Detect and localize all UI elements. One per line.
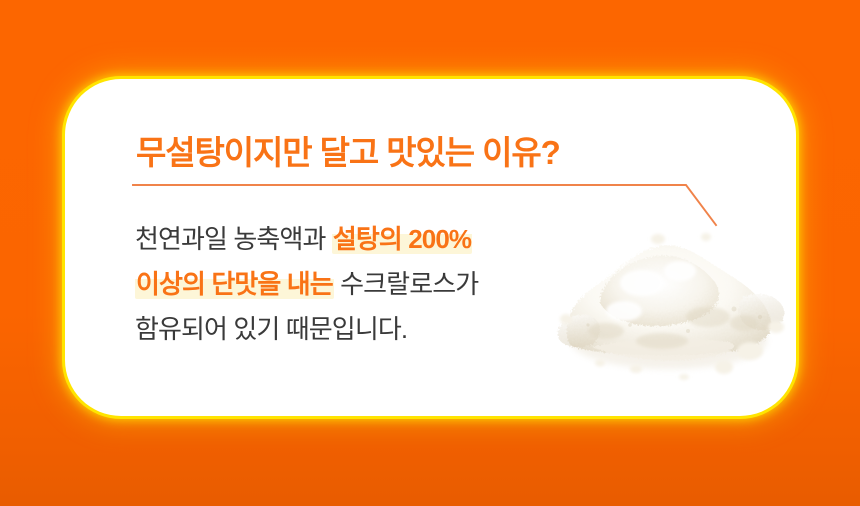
- body-line-2: 이상의 단맛을 내는 수크랄로스가: [135, 262, 478, 307]
- body-paragraph: 천연과일 농축액과 설탕의 200% 이상의 단맛을 내는 수크랄로스가 함유되…: [135, 217, 478, 352]
- body-line-1: 천연과일 농축액과 설탕의 200%: [135, 217, 478, 262]
- body-line3-plain: 함유되어 있기 때문입니다.: [135, 314, 407, 344]
- body-line2-plain: 수크랄로스가: [334, 269, 478, 299]
- body-line2-highlight: 이상의 단맛을 내는: [135, 269, 334, 299]
- info-card: 무설탕이지만 달고 맛있는 이유?: [65, 79, 796, 416]
- body-line1-plain: 천연과일 농축액과: [135, 224, 332, 254]
- page-title: 무설탕이지만 달고 맛있는 이유?: [136, 126, 560, 174]
- body-line1-highlight: 설탕의 200%: [332, 224, 472, 254]
- body-line-3: 함유되어 있기 때문입니다.: [135, 307, 478, 352]
